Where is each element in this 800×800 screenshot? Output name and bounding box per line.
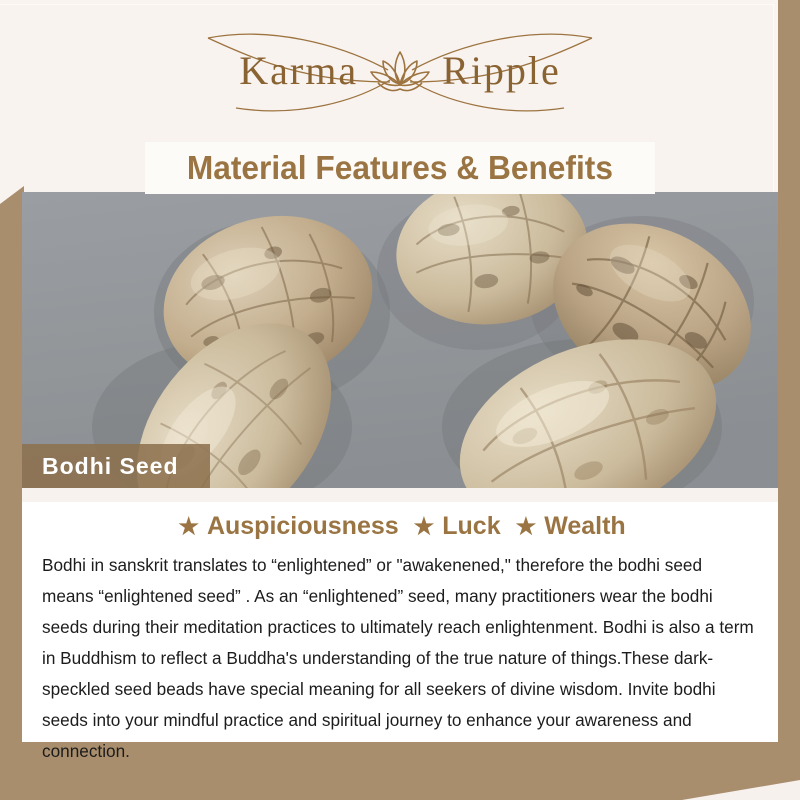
- description-paragraph: Bodhi in sanskrit translates to “enlight…: [42, 550, 758, 767]
- keyword-wealth: Wealth: [542, 512, 628, 540]
- keyword-luck: Luck: [440, 512, 502, 540]
- photo-caption-badge: Bodhi Seed: [22, 444, 210, 488]
- brand-word-left: Karma: [233, 47, 364, 94]
- panel-top-tint: [22, 488, 778, 502]
- brand-logo[interactable]: Karma Ripple: [190, 22, 610, 118]
- page-title: Material Features & Benefits: [187, 149, 613, 187]
- star-icon-3: ★: [510, 513, 543, 539]
- left-tan-accent-bar: [0, 186, 24, 744]
- logo-wordmark: Karma Ripple: [233, 42, 567, 98]
- star-icon-1: ★: [172, 513, 205, 539]
- description-panel: ★Auspiciousness ★Luck ★Wealth Bodhi in s…: [22, 488, 778, 742]
- brand-word-right: Ripple: [436, 47, 567, 94]
- lotus-icon: [364, 42, 436, 98]
- section-title-band: Material Features & Benefits: [145, 142, 655, 194]
- brand-header: Karma Ripple: [0, 0, 800, 140]
- keyword-auspiciousness: Auspiciousness: [205, 512, 401, 540]
- keyword-row: ★Auspiciousness ★Luck ★Wealth: [22, 512, 778, 541]
- poster-canvas: Karma Ripple: [0, 0, 800, 800]
- star-icon-2: ★: [408, 513, 441, 539]
- photo-caption-text: Bodhi Seed: [22, 453, 179, 480]
